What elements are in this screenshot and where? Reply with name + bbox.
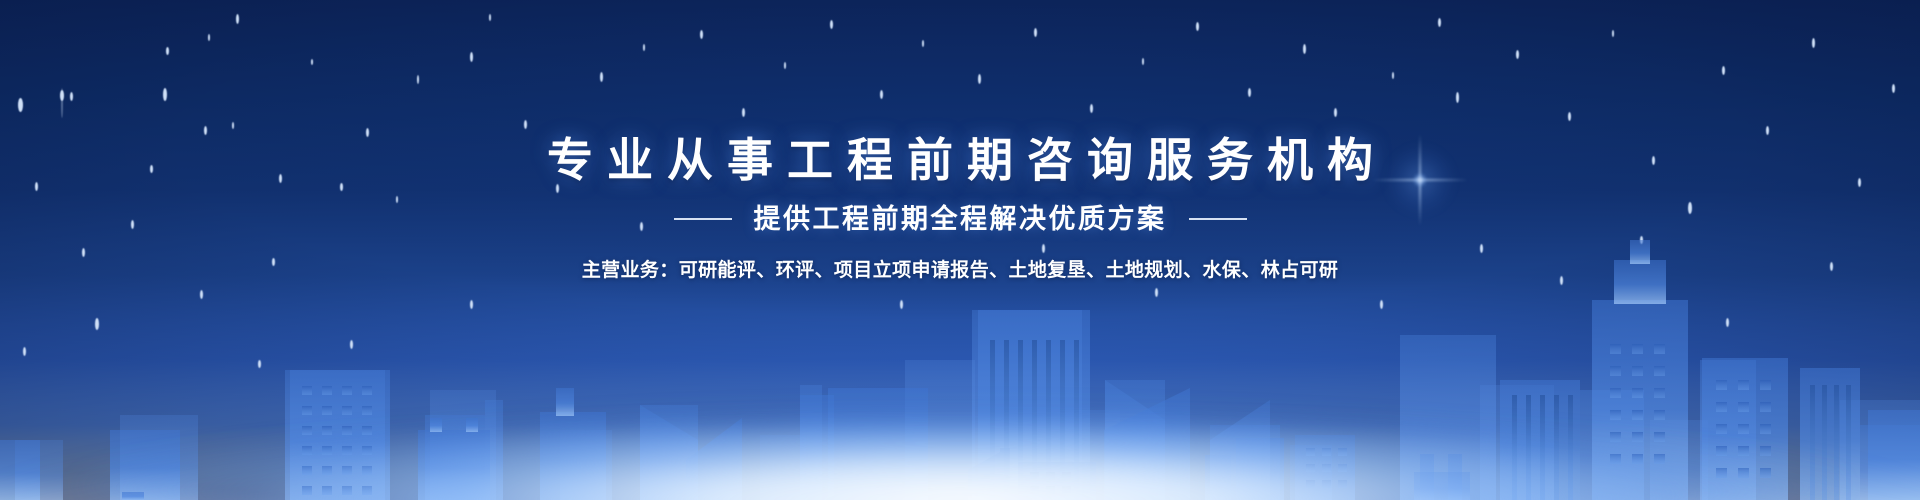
- banner-subheadline: 提供工程前期全程解决优质方案: [754, 202, 1167, 236]
- building-windows: [1306, 448, 1347, 488]
- banner-subheadline-row: 提供工程前期全程解决优质方案: [0, 202, 1920, 236]
- banner-content: 专业从事工程前期咨询服务机构 提供工程前期全程解决优质方案 主营业务：可研能评、…: [0, 0, 1920, 284]
- hero-banner: 专业从事工程前期咨询服务机构 提供工程前期全程解决优质方案 主营业务：可研能评、…: [0, 0, 1920, 500]
- rule-right-icon: [1189, 218, 1247, 220]
- banner-headline: 专业从事工程前期咨询服务机构: [0, 0, 1920, 188]
- rule-left-icon: [674, 218, 732, 220]
- banner-services-line: 主营业务：可研能评、环评、项目立项申请报告、土地复垦、土地规划、水保、林占可研: [0, 258, 1920, 284]
